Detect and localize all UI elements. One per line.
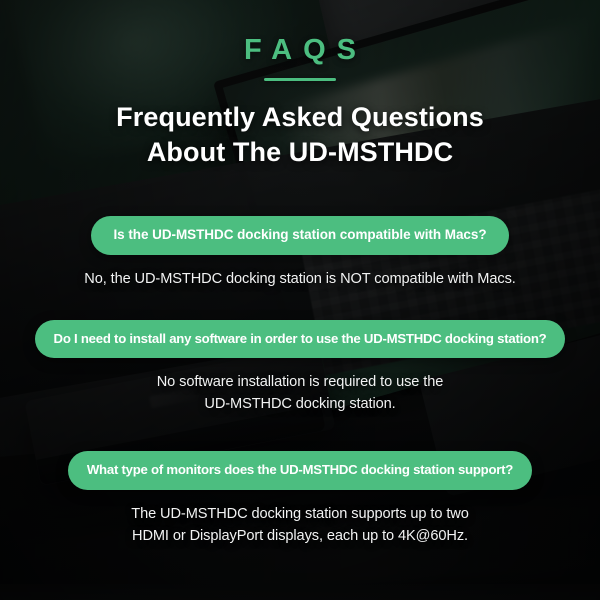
faq-spacer	[0, 304, 600, 320]
faq-answer-line-1: No software installation is required to …	[0, 371, 600, 393]
faq-question-pill[interactable]: Is the UD-MSTHDC docking station compati…	[91, 216, 508, 255]
faq-answer-line-2: UD-MSTHDC docking station.	[0, 393, 600, 415]
faq-answer: No, the UD-MSTHDC docking station is NOT…	[0, 268, 600, 290]
faq-item: Do I need to install any software in ord…	[0, 320, 600, 416]
faq-spacer	[0, 429, 600, 451]
faq-item: Is the UD-MSTHDC docking station compati…	[0, 216, 600, 290]
faq-answer-line-1: No, the UD-MSTHDC docking station is NOT…	[0, 268, 600, 290]
faq-answer-line-2: HDMI or DisplayPort displays, each up to…	[0, 525, 600, 547]
page-title-line-2: About The UD-MSTHDC	[116, 135, 484, 170]
faqs-kicker: FAQS	[233, 36, 367, 65]
faq-infographic: FAQS Frequently Asked Questions About Th…	[0, 0, 600, 600]
faq-answer: The UD-MSTHDC docking station supports u…	[0, 503, 600, 547]
page-title: Frequently Asked Questions About The UD-…	[116, 100, 484, 170]
faq-item: What type of monitors does the UD-MSTHDC…	[0, 451, 600, 547]
faq-question-pill[interactable]: What type of monitors does the UD-MSTHDC…	[68, 451, 532, 489]
faq-content: FAQS Frequently Asked Questions About Th…	[0, 0, 600, 600]
faq-answer-line-1: The UD-MSTHDC docking station supports u…	[0, 503, 600, 525]
faq-list: Is the UD-MSTHDC docking station compati…	[0, 216, 600, 561]
faq-answer: No software installation is required to …	[0, 371, 600, 415]
faq-question-pill[interactable]: Do I need to install any software in ord…	[35, 320, 566, 358]
kicker-divider	[264, 78, 336, 81]
page-title-line-1: Frequently Asked Questions	[116, 100, 484, 135]
